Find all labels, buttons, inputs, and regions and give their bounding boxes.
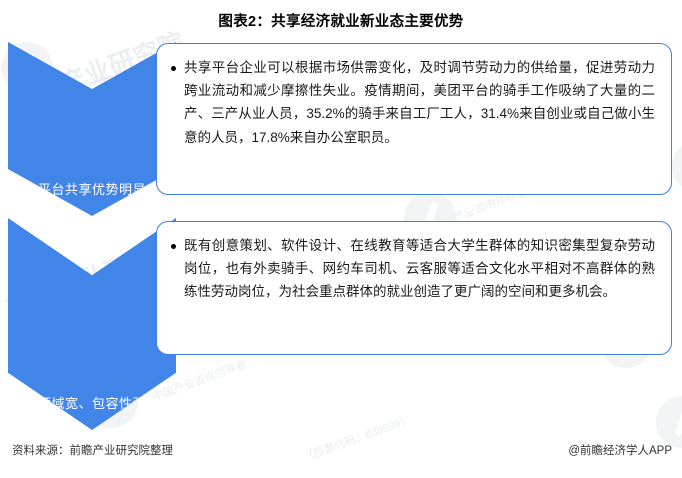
bullet-icon (171, 66, 176, 71)
card-body-text: 共享平台企业可以根据市场供需变化，及时调节劳动力的供给量，促进劳动力跨业流动和减… (184, 56, 655, 149)
source-note: 资料来源：前瞻产业研究院整理 (12, 442, 173, 458)
content-card[interactable]: 既有创意策划、软件设计、在线教育等适合大学生群体的知识密集型复杂劳动岗位，也有外… (156, 221, 672, 355)
chevron-label-text: 领域宽、包容性强 (22, 395, 162, 430)
advantages-diagram: 平台共享优势明显 共享平台企业可以根据市场供需变化，及时调节劳动力的供给量，促进… (0, 0, 682, 478)
chevron-label-platform-sharing[interactable]: 平台共享优势明显 (8, 42, 176, 216)
page-title: 图表2：共享经济就业新业态主要优势 (0, 10, 682, 31)
chevron-label-text: 平台共享优势明显 (22, 181, 162, 216)
bullet-icon (171, 244, 176, 249)
chevron-label-wide-field[interactable]: 领域宽、包容性强 (8, 218, 176, 430)
card-body-text: 既有创意策划、软件设计、在线教育等适合大学生群体的知识密集型复杂劳动岗位，也有外… (184, 234, 655, 304)
brand-note: @前瞻经济学人APP (568, 442, 672, 458)
footer: 资料来源：前瞻产业研究院整理 @前瞻经济学人APP (0, 442, 682, 460)
content-card[interactable]: 共享平台企业可以根据市场供需变化，及时调节劳动力的供给量，促进劳动力跨业流动和减… (156, 43, 672, 195)
